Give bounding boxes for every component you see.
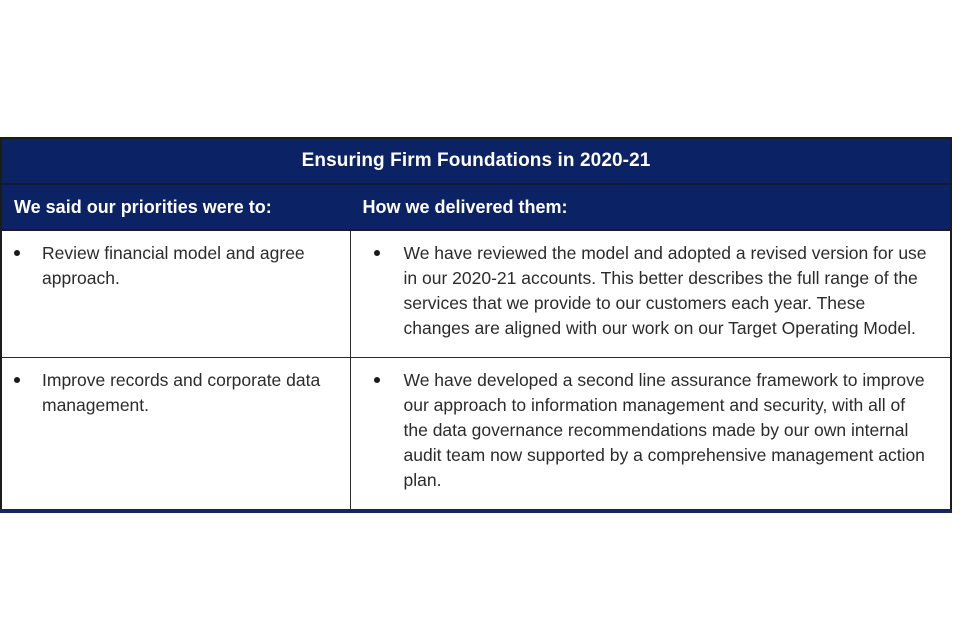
list-item: Improve records and corporate data manag… xyxy=(6,368,336,418)
priority-text: Review financial model and agree approac… xyxy=(42,243,305,288)
delivery-bullet-list: We have developed a second line assuranc… xyxy=(361,368,929,493)
table-row: Review financial model and agree approac… xyxy=(1,230,951,358)
table-header-row: We said our priorities were to: How we d… xyxy=(1,184,951,230)
priority-cell: Improve records and corporate data manag… xyxy=(1,358,350,512)
bullet-icon xyxy=(14,377,20,383)
priority-cell: Review financial model and agree approac… xyxy=(1,230,350,358)
delivery-cell: We have reviewed the model and adopted a… xyxy=(350,230,951,358)
delivery-bullet-list: We have reviewed the model and adopted a… xyxy=(361,241,929,341)
priority-text: Improve records and corporate data manag… xyxy=(42,370,320,415)
table-row: Improve records and corporate data manag… xyxy=(1,358,951,512)
delivery-cell: We have developed a second line assuranc… xyxy=(350,358,951,512)
column-header-delivery: How we delivered them: xyxy=(350,184,951,230)
table-title: Ensuring Firm Foundations in 2020-21 xyxy=(1,138,951,184)
bullet-icon xyxy=(14,250,20,256)
priorities-table: Ensuring Firm Foundations in 2020-21 We … xyxy=(0,137,952,513)
page-canvas: Ensuring Firm Foundations in 2020-21 We … xyxy=(0,0,960,640)
list-item: Review financial model and agree approac… xyxy=(6,241,336,291)
delivery-text: We have developed a second line assuranc… xyxy=(404,370,925,490)
delivery-text: We have reviewed the model and adopted a… xyxy=(404,243,927,338)
list-item: We have developed a second line assuranc… xyxy=(361,368,929,493)
bullet-icon xyxy=(374,377,380,383)
list-item: We have reviewed the model and adopted a… xyxy=(361,241,929,341)
column-header-priorities: We said our priorities were to: xyxy=(1,184,350,230)
table-title-row: Ensuring Firm Foundations in 2020-21 xyxy=(1,138,951,184)
priority-bullet-list: Review financial model and agree approac… xyxy=(6,241,336,291)
priority-bullet-list: Improve records and corporate data manag… xyxy=(6,368,336,418)
priorities-table-container: Ensuring Firm Foundations in 2020-21 We … xyxy=(0,137,950,513)
bullet-icon xyxy=(374,250,380,256)
